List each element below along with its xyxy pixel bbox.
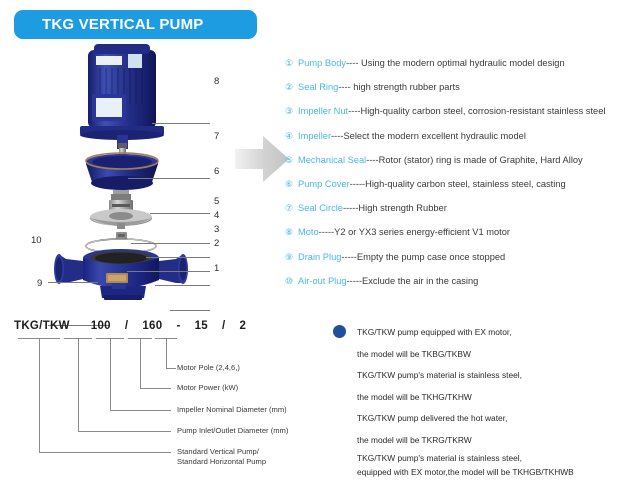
impeller-part — [90, 209, 152, 229]
code-part-series: TKG/TKW — [14, 320, 70, 332]
label-motor-power: Motor Power (kW) — [177, 383, 238, 394]
feature-name-10: Air-out Plug — [298, 276, 347, 286]
code-part-impeller: 160 — [142, 320, 162, 332]
feature-desc-10: -----Exclude the air in the casing — [347, 276, 479, 286]
feature-item-1: ① Pump Body ---- Using the modern optima… — [285, 58, 617, 82]
callout-7: 7 — [214, 131, 219, 142]
callout-10: 10 — [31, 235, 42, 246]
feature-item-8: ⑧ Moto -----Y2 or YX3 series energy-effi… — [285, 227, 617, 251]
pump-cover-part — [86, 153, 158, 190]
drop-pole — [166, 338, 167, 368]
feature-number-4: ④ — [285, 132, 298, 142]
feature-item-5: ⑤ Mechanical Seal ----Rotor (stator) rin… — [285, 155, 617, 179]
feature-desc-8: -----Y2 or YX3 series energy-efficient V… — [319, 227, 510, 237]
feature-desc-3: ----High-quality carbon steel, corrosion… — [348, 106, 605, 116]
code-part-power: 15 — [195, 320, 208, 332]
elbow-power — [140, 388, 171, 389]
page-root: TKG VERTICAL PUMP — [0, 0, 617, 500]
motor-part — [80, 44, 164, 140]
feature-name-7: Seal Circle — [298, 203, 343, 213]
right-arrow-icon — [233, 133, 291, 185]
elbow-impeller — [110, 410, 171, 411]
note-line-6: the model will be TKRG/TKRW — [333, 430, 617, 452]
elbow-pole — [166, 368, 176, 369]
callout-3: 3 — [214, 224, 219, 235]
leader-line-1 — [170, 310, 210, 311]
feature-desc-1: ---- Using the modern optimal hydraulic … — [346, 58, 565, 68]
callout-4: 4 — [214, 210, 219, 221]
drop-inlet — [78, 338, 79, 431]
code-part-inlet: 100 — [91, 320, 111, 332]
feature-desc-7: -----High strength Rubber — [343, 203, 447, 213]
callout-1: 1 — [214, 263, 219, 274]
feature-desc-2: ---- high strength rubber parts — [338, 82, 459, 92]
feature-number-6: ⑥ — [285, 180, 298, 190]
feature-number-9: ⑨ — [285, 253, 298, 263]
feature-desc-4: ----Select the modern excellent hydrauli… — [331, 131, 526, 141]
label-impeller-dia: Impeller Nominal Diameter (mm) — [177, 405, 287, 416]
leader-line-2 — [155, 285, 210, 286]
code-sep-3: / — [222, 320, 226, 332]
feature-number-2: ② — [285, 83, 298, 93]
label-standard-horiz: Standard Horizontal Pump — [177, 457, 266, 468]
feature-item-7: ⑦ Seal Circle -----High strength Rubber — [285, 203, 617, 227]
feature-name-3: Impeller Nut — [298, 106, 348, 116]
leader-line-5 — [131, 243, 210, 244]
feature-name-9: Drain Plug — [298, 252, 341, 262]
feature-desc-6: -----High-quality carbon steel, stainles… — [350, 179, 566, 189]
feature-number-7: ⑦ — [285, 204, 298, 214]
elbow-inlet — [78, 431, 171, 432]
pump-exploded-illustration — [0, 42, 250, 307]
feature-item-3: ③ Impeller Nut ----High-quality carbon s… — [285, 106, 617, 130]
feature-number-8: ⑧ — [285, 228, 298, 238]
callout-5: 5 — [214, 196, 219, 207]
page-title-banner: TKG VERTICAL PUMP — [14, 10, 257, 39]
feature-name-8: Moto — [298, 227, 319, 237]
callout-6: 6 — [214, 166, 219, 177]
drop-impeller — [110, 338, 111, 410]
drop-power — [140, 338, 141, 388]
note-line-4: the model will be TKHG/TKHW — [333, 387, 617, 409]
feature-item-2: ② Seal Ring ---- high strength rubber pa… — [285, 82, 617, 106]
variant-notes: TKG/TKW pump equipped with EX motor, the… — [333, 322, 617, 479]
note-line-5: TKG/TKW pump delivered the hot water, — [333, 408, 617, 430]
leader-line-10 — [48, 282, 98, 283]
feature-name-1: Pump Body — [298, 58, 346, 68]
callout-9: 9 — [37, 278, 42, 289]
leader-line-4 — [146, 257, 210, 258]
feature-name-6: Pump Cover — [298, 179, 350, 189]
note-line-7: TKG/TKW pump's material is stainless ste… — [333, 451, 617, 465]
feature-item-10: ⑩ Air-out Plug -----Exclude the air in t… — [285, 276, 617, 300]
feature-list: ① Pump Body ---- Using the modern optima… — [285, 58, 617, 300]
feature-item-6: ⑥ Pump Cover -----High-quality carbon st… — [285, 179, 617, 203]
impeller-nut-part — [116, 232, 127, 239]
code-part-pole: 2 — [240, 320, 247, 332]
note-line-8: equipped with EX motor,the model will be… — [333, 465, 617, 479]
code-sep-1: / — [125, 320, 129, 332]
feature-number-10: ⑩ — [285, 277, 298, 287]
feature-item-9: ⑨ Drain Plug -----Empty the pump case on… — [285, 252, 617, 276]
feature-desc-9: -----Empty the pump case once stopped — [341, 252, 505, 262]
model-code-breakdown: TKG/TKW 100 / 160 - 15 / 2 — [0, 312, 330, 500]
leader-line-8 — [152, 123, 210, 124]
mechanical-seal-part — [109, 190, 133, 212]
feature-number-5: ⑤ — [285, 156, 298, 166]
feature-name-2: Seal Ring — [298, 82, 338, 92]
feature-name-5: Mechanical Seal — [298, 155, 366, 165]
leader-line-6 — [150, 213, 210, 214]
note-line-3: TKG/TKW pump's material is stainless ste… — [333, 365, 617, 387]
feature-number-1: ① — [285, 59, 298, 69]
feature-item-4: ④ Impeller ----Select the modern excelle… — [285, 131, 617, 155]
code-sep-2: - — [176, 320, 180, 332]
label-inlet-dia: Pump Inlet/Outlet Diameter (mm) — [177, 426, 288, 437]
elbow-series — [39, 452, 171, 453]
drop-series — [39, 338, 40, 452]
note-line-1: TKG/TKW pump equipped with EX motor, — [333, 322, 617, 344]
feature-desc-5: ----Rotor (stator) ring is made of Graph… — [366, 155, 582, 165]
note-line-2: the model will be TKBG/TKBW — [333, 344, 617, 366]
feature-name-4: Impeller — [298, 131, 331, 141]
feature-number-3: ③ — [285, 107, 298, 117]
bullet-dot-icon — [333, 325, 346, 338]
leader-line-3 — [127, 271, 210, 272]
label-motor-pole: Motor Pole (2,4,6,) — [177, 363, 240, 374]
page-title: TKG VERTICAL PUMP — [14, 16, 203, 33]
callout-8: 8 — [214, 76, 219, 87]
model-code-row: TKG/TKW 100 / 160 - 15 / 2 — [14, 320, 246, 332]
label-standard-vert: Standard Vertical Pump/ — [177, 447, 259, 458]
leader-line-7 — [128, 178, 210, 179]
callout-2: 2 — [214, 238, 219, 249]
